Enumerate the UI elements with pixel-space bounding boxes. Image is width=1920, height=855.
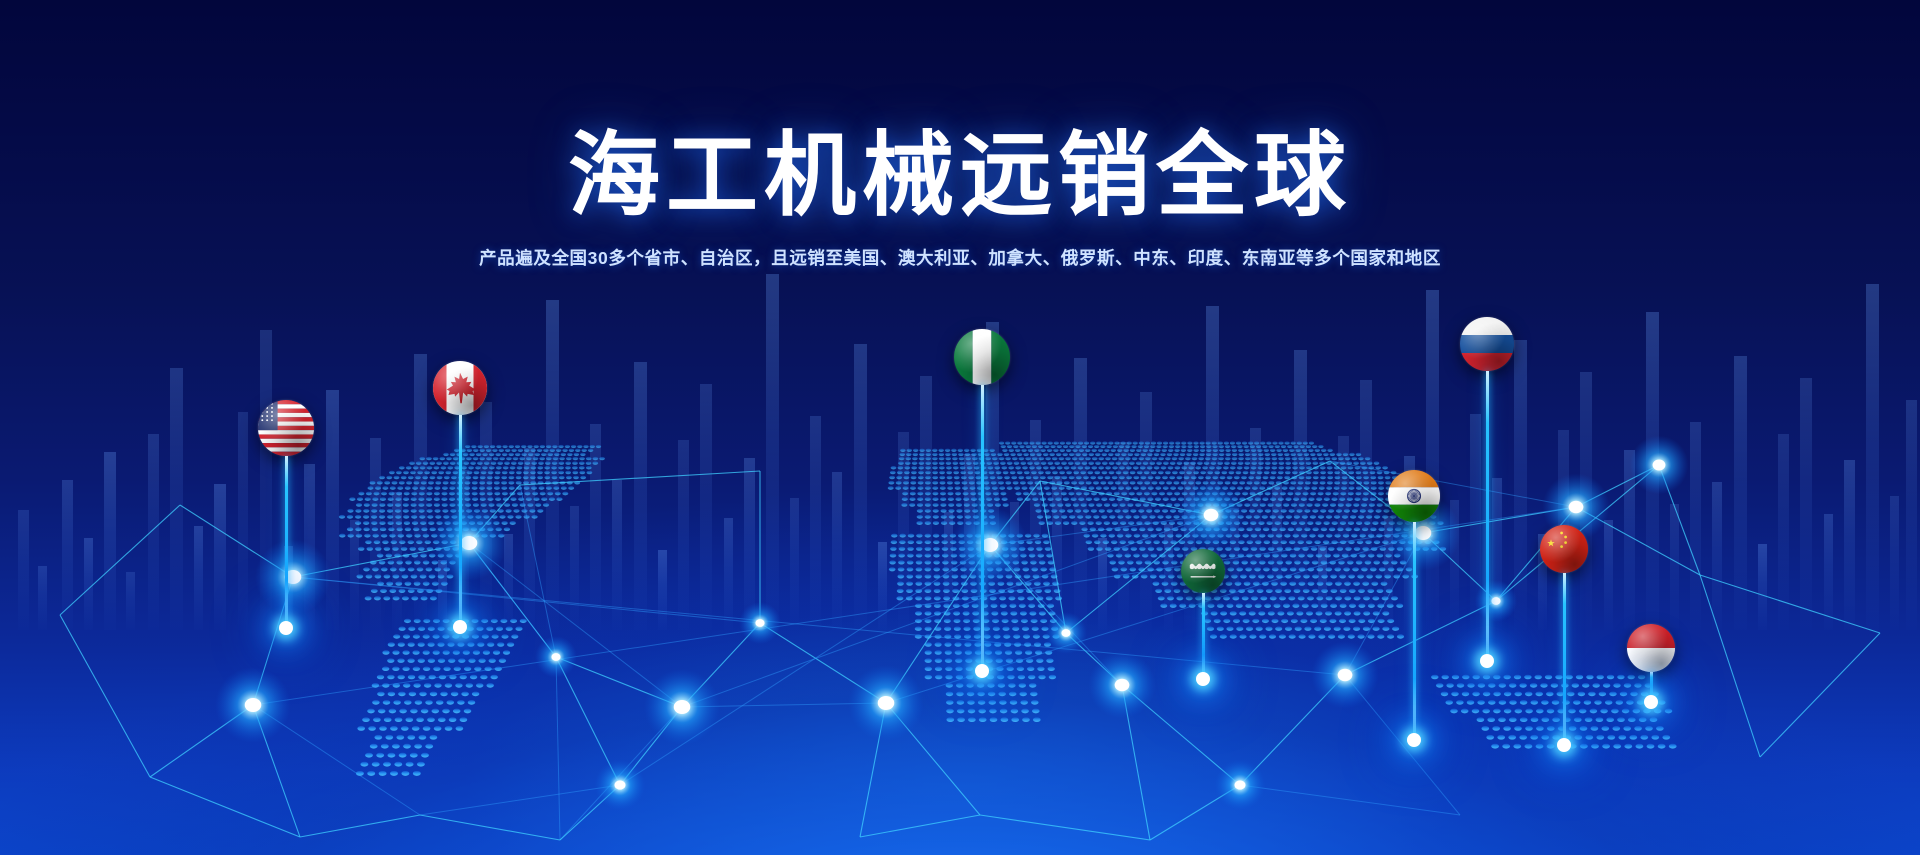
flag-pin-nigeria[interactable] (954, 329, 1010, 385)
node-core (1204, 509, 1219, 521)
flag-pin-china[interactable] (1540, 525, 1588, 573)
page-title: 海工机械远销全球 (0, 128, 1920, 225)
pin-tip-glow (1407, 733, 1421, 747)
map-node[interactable] (215, 667, 291, 743)
map-node[interactable] (1215, 760, 1265, 810)
map-node[interactable] (1311, 641, 1378, 708)
node-core (614, 780, 625, 789)
node-core (1061, 629, 1070, 637)
map-node[interactable] (1475, 580, 1517, 622)
flag-icon-russia (1460, 317, 1514, 371)
pin-stem (1486, 371, 1489, 661)
pin-stem (1413, 522, 1416, 740)
page-subtitle: 产品遍及全国30多个省市、自治区，且远销至美国、澳大利亚、加拿大、俄罗斯、中东、… (0, 245, 1920, 270)
pin-tip-glow (453, 620, 467, 634)
map-node[interactable] (952, 507, 1028, 583)
pin-stem (981, 385, 984, 671)
node-core (461, 536, 478, 550)
flag-icon-china (1540, 525, 1588, 573)
node-core (674, 700, 691, 714)
map-node[interactable] (1045, 612, 1087, 654)
flag-pin-canada[interactable] (433, 361, 487, 415)
map-node[interactable] (1630, 436, 1689, 495)
node-core (1415, 526, 1432, 540)
pin-stem (1563, 573, 1566, 745)
pin-tip-glow (279, 621, 293, 635)
map-node[interactable] (255, 539, 331, 615)
flag-icon-nigeria (954, 329, 1010, 385)
flag-pin-saudi-arabia[interactable] (1181, 549, 1225, 593)
pin-stem (1202, 593, 1205, 679)
node-core (1234, 780, 1245, 789)
pin-stem (285, 456, 288, 628)
node-core (1115, 679, 1130, 691)
map-node[interactable] (535, 636, 577, 678)
headline-block: 海工机械远销全球 产品遍及全国30多个省市、自治区，且远销至美国、澳大利亚、加拿… (0, 128, 1920, 270)
map-node[interactable] (1088, 651, 1155, 718)
flag-pin-united-states[interactable] (258, 400, 314, 456)
flag-pin-india[interactable] (1388, 470, 1440, 522)
map-node[interactable] (644, 669, 720, 745)
pin-stem (459, 415, 462, 627)
flag-icon-united-states (258, 400, 314, 456)
map-node[interactable] (431, 505, 507, 581)
flag-icon-canada (433, 361, 487, 415)
flag-pin-russia[interactable] (1460, 317, 1514, 371)
map-node[interactable] (1177, 481, 1244, 548)
pin-tip-glow (1557, 738, 1571, 752)
node-core (1491, 597, 1500, 605)
flag-icon-indonesia (1627, 624, 1675, 672)
map-node[interactable] (848, 665, 924, 741)
node-core (1653, 460, 1666, 471)
node-core (551, 653, 560, 661)
node-core (878, 696, 895, 710)
pin-tip-glow (1480, 654, 1494, 668)
node-core (1338, 669, 1353, 681)
pin-tip-glow (975, 664, 989, 678)
flag-icon-india (1388, 470, 1440, 522)
node-core (982, 538, 999, 552)
pin-tip-glow (1196, 672, 1210, 686)
global-sales-banner: 海工机械远销全球 产品遍及全国30多个省市、自治区，且远销至美国、澳大利亚、加拿… (0, 0, 1920, 855)
node-core (1569, 501, 1584, 513)
map-node[interactable] (595, 760, 645, 810)
map-node[interactable] (739, 602, 781, 644)
node-core (755, 619, 764, 627)
pin-tip-glow (1644, 695, 1658, 709)
flag-pin-indonesia[interactable] (1627, 624, 1675, 672)
flag-icon-saudi-arabia (1181, 549, 1225, 593)
node-core (245, 698, 262, 712)
